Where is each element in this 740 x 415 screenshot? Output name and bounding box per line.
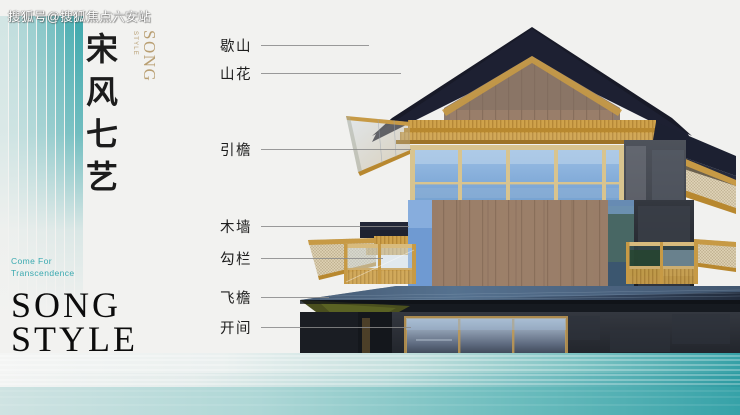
tagline-line-1: Come For <box>11 255 74 267</box>
callout-label: 开间 <box>220 317 252 338</box>
leader-line <box>261 258 383 259</box>
callout-xieshan: 歇山 <box>220 36 369 54</box>
leader-line <box>261 45 369 46</box>
callout-muqiang: 木墙 <box>220 217 409 235</box>
callout-label: 飞檐 <box>220 287 252 308</box>
callout-label: 勾栏 <box>220 248 252 269</box>
callout-yinyan: 引檐 <box>220 140 411 158</box>
vertical-latin-mark: STYLE SONG <box>132 30 159 118</box>
vertical-latin-song: SONG <box>139 30 159 82</box>
vertical-title-char: 七 <box>86 113 134 156</box>
callout-goulan: 勾栏 <box>220 249 383 267</box>
wordmark: SONG STYLE <box>11 288 138 356</box>
tagline-line-2: Transcendence <box>11 267 74 279</box>
poster-canvas: 歇山 山花 引檐 木墙 勾栏 飞檐 开间 宋 风 七 艺 STYLE SONG … <box>0 0 740 415</box>
vertical-title: 宋 风 七 艺 <box>86 28 134 198</box>
callout-label: 歇山 <box>220 35 252 56</box>
vertical-title-char: 艺 <box>86 156 134 199</box>
leader-line <box>261 327 411 328</box>
leader-line <box>261 149 411 150</box>
tagline: Come For Transcendence <box>11 255 74 280</box>
callout-feiyan: 飞檐 <box>220 288 329 306</box>
vertical-title-char: 宋 <box>86 28 134 71</box>
watermark-text: 搜狐号@搜狐焦点六安站 <box>8 6 151 25</box>
leader-line <box>261 297 329 298</box>
callout-label: 木墙 <box>220 216 252 237</box>
leader-line <box>261 73 401 74</box>
wordmark-line-2: STYLE <box>11 322 138 356</box>
callout-shanhua: 山花 <box>220 64 401 82</box>
vertical-title-char: 风 <box>86 71 134 114</box>
callout-kaijian: 开间 <box>220 318 411 336</box>
vertical-latin-style: STYLE <box>132 31 138 56</box>
callout-label: 山花 <box>220 63 252 84</box>
callout-label: 引檐 <box>220 139 252 160</box>
leader-line <box>261 226 409 227</box>
stripe-bar <box>0 16 8 362</box>
wordmark-line-1: SONG <box>11 288 138 322</box>
bottom-gradient-band <box>0 353 740 415</box>
